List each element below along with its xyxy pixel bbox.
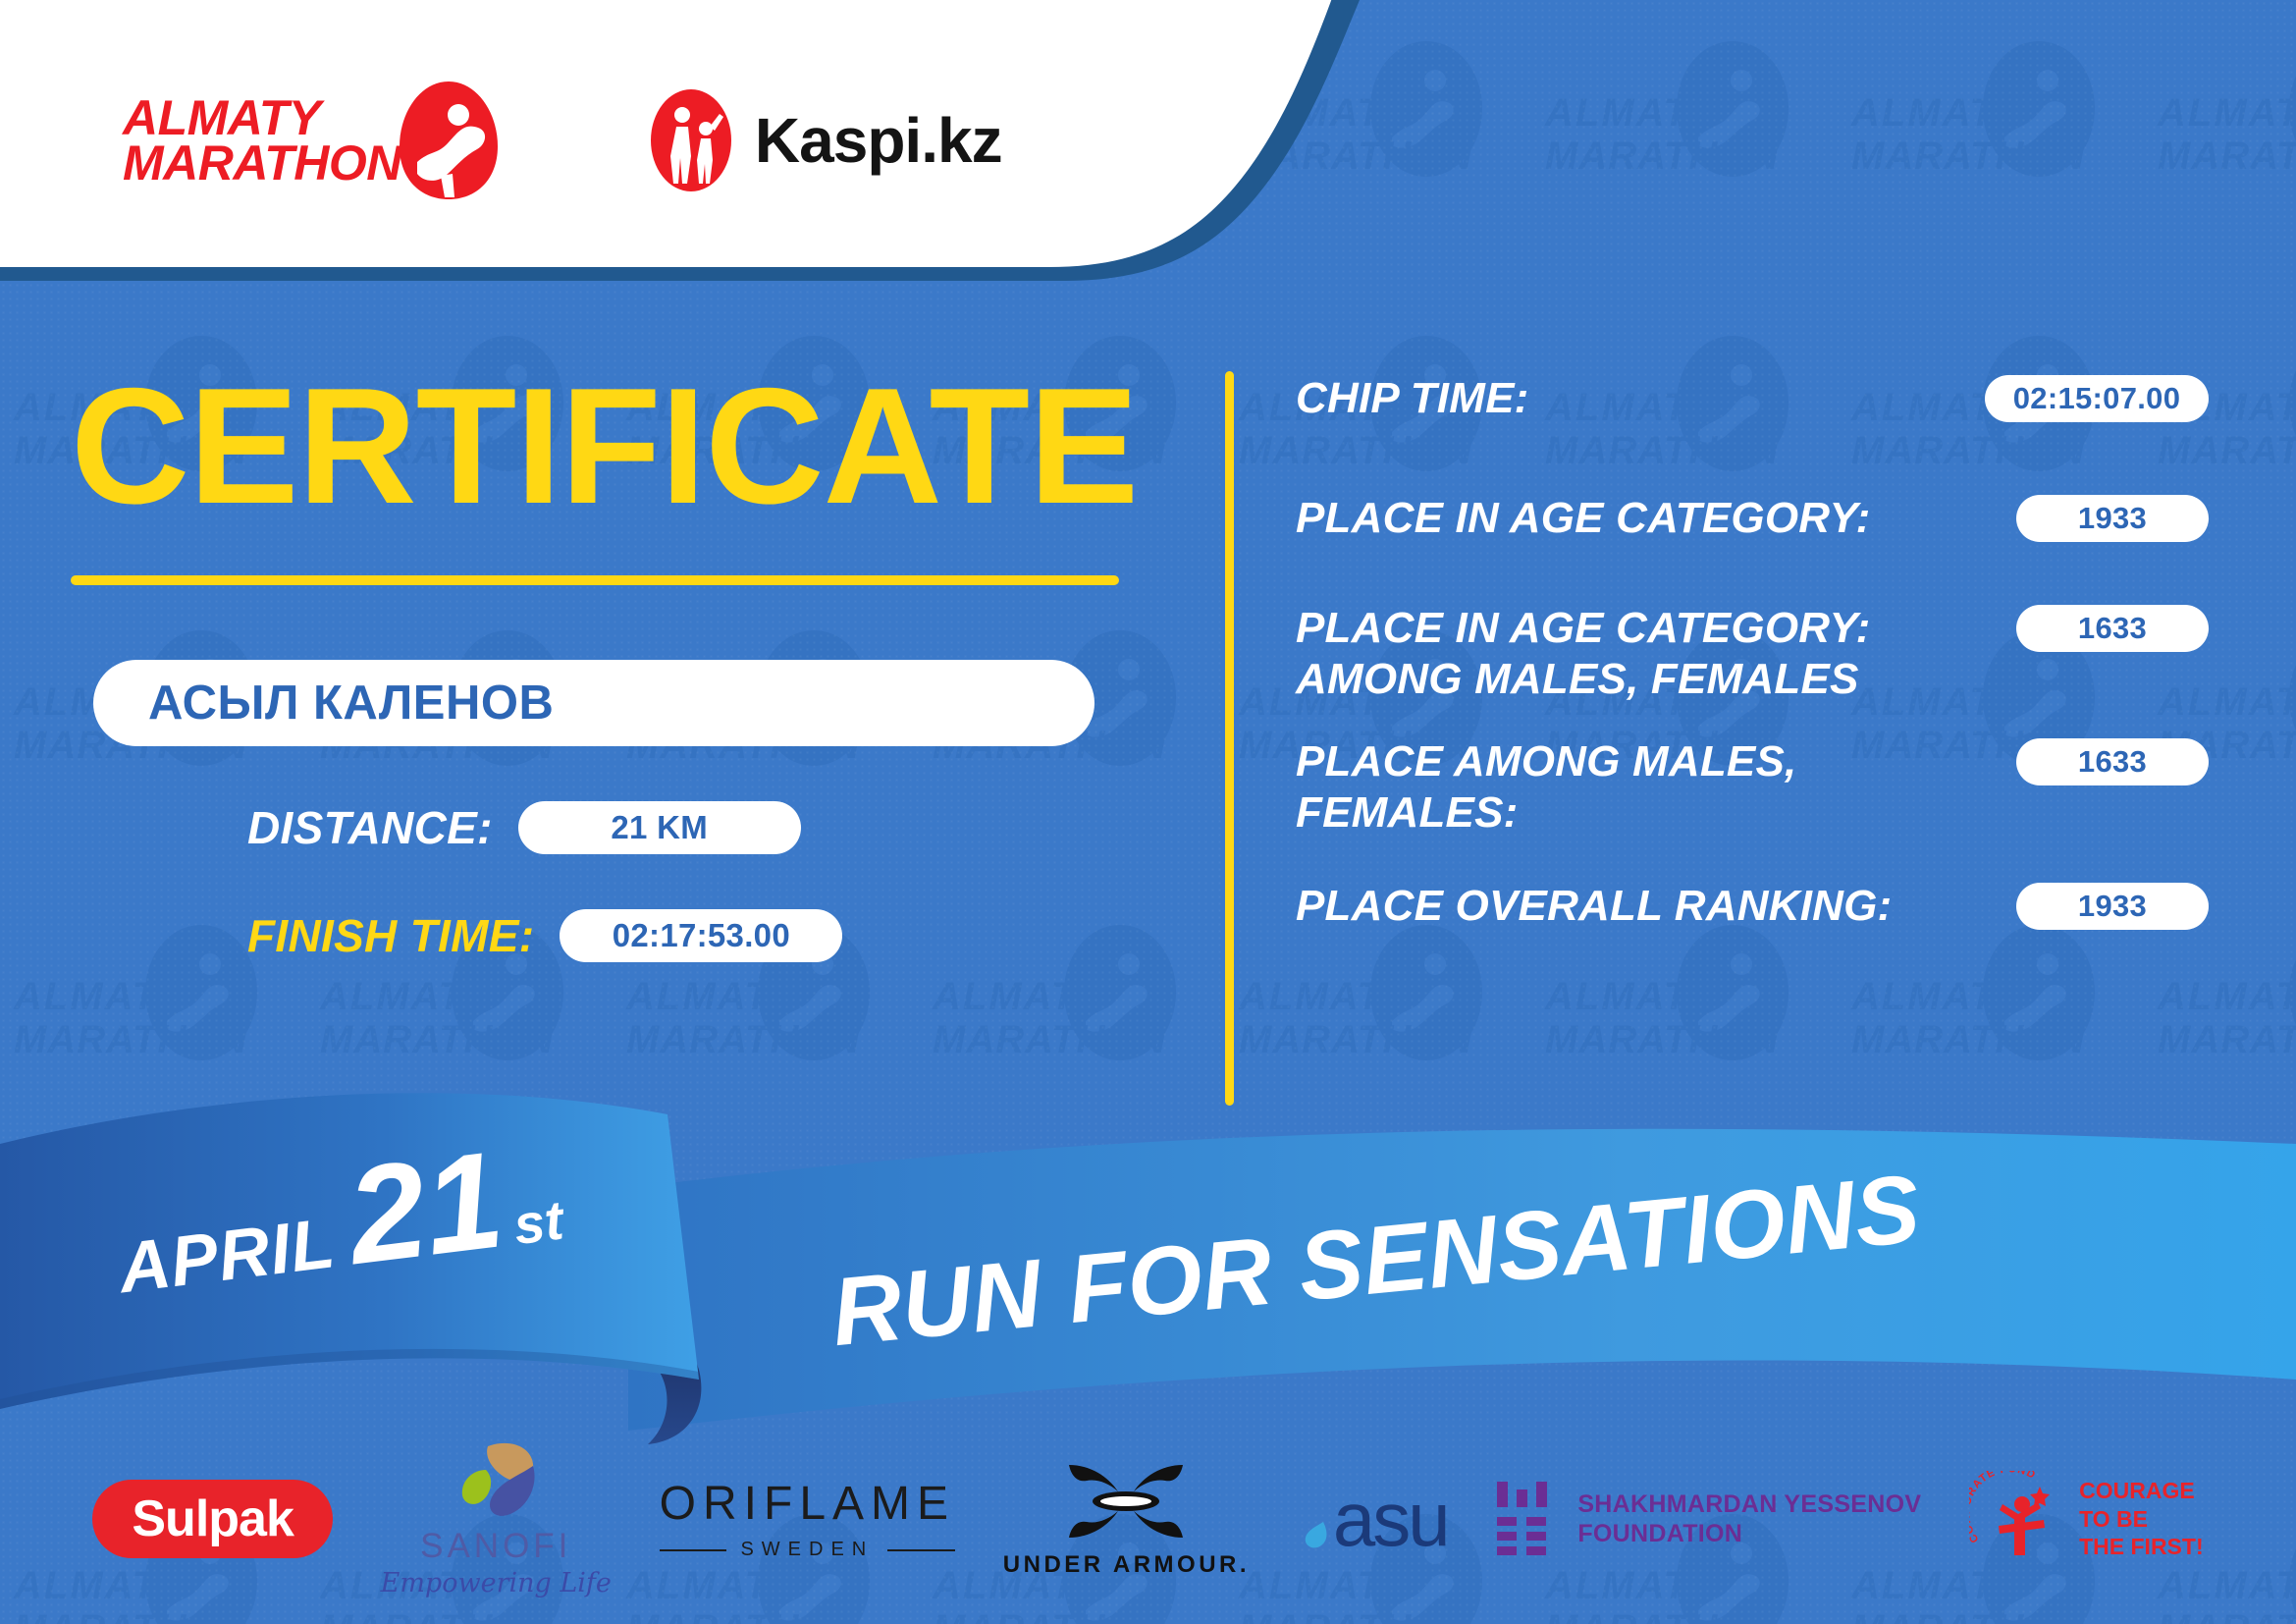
sponsor-corporate-fund: CORPORATE FUND COURAGE TO BE THE FIRST! — [1969, 1471, 2204, 1567]
finish-time-row: FINISH TIME: 02:17:53.00 — [247, 909, 1160, 962]
almaty-marathon-logo: ALMATY MARATHON — [123, 78, 502, 203]
age-category-gender-label: PLACE IN AGE CATEGORY:AMONG MALES, FEMAL… — [1296, 603, 1870, 705]
age-category-gender-value: 1633 — [2078, 611, 2147, 646]
kaspi-logo: Kaspi.kz — [649, 87, 1002, 193]
event-month: APRIL — [115, 1203, 340, 1309]
sponsor-under-armour: UNDER ARMOUR. — [1003, 1459, 1250, 1579]
asu-wordmark: asu — [1333, 1485, 1448, 1553]
among-gender-label: PLACE AMONG MALES, FEMALES: — [1296, 736, 1944, 839]
finish-time-label: FINISH TIME: — [247, 909, 534, 962]
chip-time-pill: 02:15:07.00 — [1985, 375, 2209, 422]
corporate-fund-line2: TO BE — [2079, 1505, 2204, 1534]
oriflame-rule-left — [660, 1549, 727, 1551]
result-row-age-category: PLACE IN AGE CATEGORY: 1933 — [1296, 493, 2209, 544]
distance-value: 21 KM — [611, 809, 708, 846]
sponsor-asu: asu — [1298, 1485, 1448, 1553]
result-row-overall: PLACE OVERALL RANKING: 1933 — [1296, 881, 2209, 932]
header-logos: ALMATY MARATHON — [0, 0, 1315, 281]
oriflame-subtitle: SWEDEN — [740, 1539, 874, 1561]
yessenov-mark-icon — [1495, 1480, 1552, 1558]
sponsor-sanofi: SANOFI Empowering Life — [381, 1440, 612, 1598]
sponsor-yessenov-foundation: SHAKHMARDAN YESSENOV FOUNDATION — [1495, 1480, 1921, 1558]
corporate-fund-line3: THE FIRST! — [2079, 1533, 2204, 1561]
finish-time-pill: 02:17:53.00 — [560, 909, 842, 962]
under-armour-icon — [1059, 1459, 1193, 1543]
age-category-pill: 1933 — [2016, 495, 2209, 542]
result-row-among-gender: PLACE AMONG MALES, FEMALES: 1633 — [1296, 736, 2209, 839]
asu-drop-icon — [1298, 1520, 1333, 1553]
age-category-value: 1933 — [2078, 501, 2147, 536]
among-gender-value: 1633 — [2078, 744, 2147, 780]
kaspi-people-icon — [649, 87, 733, 193]
certificate-canvas: ALMATY MARATHON ALMATY MARATHON — [0, 0, 2296, 1624]
chip-time-value: 02:15:07.00 — [2013, 381, 2181, 416]
under-armour-wordmark: UNDER ARMOUR. — [1003, 1551, 1250, 1579]
yessenov-line2: FOUNDATION — [1577, 1519, 1921, 1549]
finish-time-value: 02:17:53.00 — [613, 917, 790, 954]
among-gender-pill: 1633 — [2016, 738, 2209, 785]
yessenov-line1: SHAKHMARDAN YESSENOV — [1577, 1489, 1921, 1520]
event-day: 21 — [343, 1144, 507, 1272]
results-panel: CHIP TIME: 02:15:07.00 PLACE IN AGE CATE… — [1296, 373, 2209, 932]
almaty-logo-line2: MARATHON — [123, 140, 401, 186]
result-row-chip-time: CHIP TIME: 02:15:07.00 — [1296, 373, 2209, 424]
title-underline — [71, 575, 1119, 585]
corporate-fund-icon: CORPORATE FUND — [1969, 1471, 2065, 1567]
event-day-suffix: st — [510, 1188, 566, 1258]
overall-ranking-value: 1933 — [2078, 889, 2147, 924]
sanofi-icon — [449, 1440, 543, 1525]
certificate-title: CERTIFICATE — [71, 363, 1160, 528]
sulpak-wordmark: Sulpak — [132, 1489, 294, 1548]
chip-time-label: CHIP TIME: — [1296, 373, 1528, 424]
almaty-logo-line1: ALMATY — [123, 95, 401, 140]
sponsor-sulpak: Sulpak — [92, 1480, 333, 1558]
oriflame-wordmark: ORIFLAME — [660, 1477, 955, 1531]
participant-name-field[interactable]: АСЫЛ КАЛЕНОВ — [93, 660, 1095, 746]
kaspi-wordmark: Kaspi.kz — [755, 104, 1002, 177]
distance-pill: 21 KM — [518, 801, 801, 854]
overall-ranking-pill: 1933 — [2016, 883, 2209, 930]
almaty-runner-icon — [396, 78, 502, 203]
sponsor-oriflame: ORIFLAME SWEDEN — [660, 1477, 955, 1561]
age-category-label: PLACE IN AGE CATEGORY: — [1296, 493, 1870, 544]
distance-row: DISTANCE: 21 KM — [247, 801, 1160, 854]
corporate-fund-line1: COURAGE — [2079, 1477, 2204, 1505]
overall-ranking-label: PLACE OVERALL RANKING: — [1296, 881, 1892, 932]
sanofi-wordmark: SANOFI — [420, 1527, 571, 1566]
oriflame-rule-right — [887, 1549, 955, 1551]
result-row-age-category-gender: PLACE IN AGE CATEGORY:AMONG MALES, FEMAL… — [1296, 603, 2209, 705]
participant-name-value: АСЫЛ КАЛЕНОВ — [148, 676, 554, 731]
header-panel: ALMATY MARATHON — [0, 0, 2296, 295]
certificate-left-column: CERTIFICATE АСЫЛ КАЛЕНОВ DISTANCE: 21 KM… — [71, 363, 1160, 962]
vertical-divider — [1225, 371, 1234, 1106]
sanofi-tagline: Empowering Life — [381, 1568, 612, 1598]
sponsor-bar: Sulpak SANOFI Empowering Life ORIFLAME S… — [0, 1414, 2296, 1624]
distance-label: DISTANCE: — [247, 801, 493, 854]
age-category-gender-pill: 1633 — [2016, 605, 2209, 652]
